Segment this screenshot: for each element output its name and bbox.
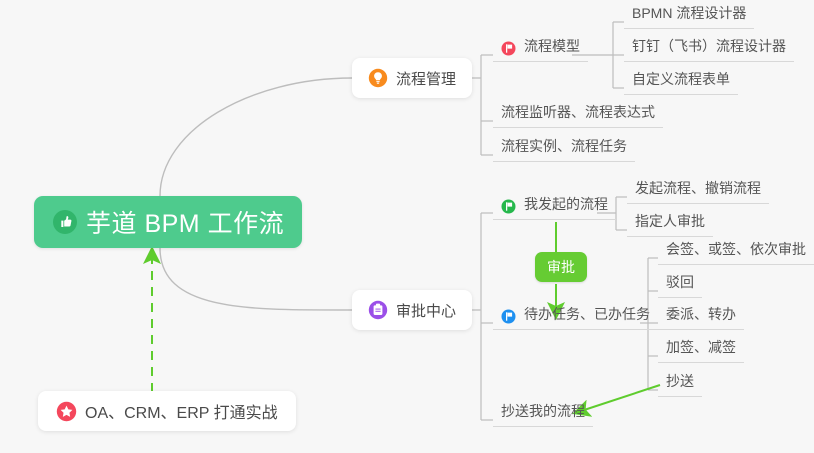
branch-node-process-management[interactable]: 流程管理 [352, 58, 472, 98]
node-label-cc: 抄送 [666, 371, 694, 391]
node-label-process-instance-task: 流程实例、流程任务 [501, 136, 627, 156]
root-node[interactable]: 芋道 BPM 工作流 [34, 196, 302, 248]
branch-node-approval-center[interactable]: 审批中心 [352, 290, 472, 330]
clipboard-icon [368, 300, 388, 320]
node-my-started-process[interactable]: 我发起的流程 [493, 194, 616, 220]
node-cc[interactable]: 抄送 [658, 371, 702, 397]
lightbulb-icon [368, 68, 388, 88]
node-label-bpmn-designer: BPMN 流程设计器 [632, 3, 746, 23]
node-label-process-model: 流程模型 [524, 36, 580, 56]
flag-icon [501, 309, 516, 324]
node-label-my-started-process: 我发起的流程 [524, 194, 608, 214]
branch-label-process-management: 流程管理 [396, 68, 456, 89]
node-label-process-listener-expression: 流程监听器、流程表达式 [501, 102, 655, 122]
node-label-start-cancel-process: 发起流程、撤销流程 [635, 178, 761, 198]
node-label-todo-done-task: 待办任务、已办任务 [524, 304, 650, 324]
node-start-cancel-process[interactable]: 发起流程、撤销流程 [627, 178, 769, 204]
node-label-delegate-transfer: 委派、转办 [666, 304, 736, 324]
node-todo-done-task[interactable]: 待办任务、已办任务 [493, 304, 658, 330]
node-label-cc-to-me-process: 抄送我的流程 [501, 401, 585, 421]
star-icon [56, 401, 77, 422]
root-label: 芋道 BPM 工作流 [86, 204, 284, 240]
node-delegate-transfer[interactable]: 委派、转办 [658, 304, 744, 330]
bottom-card-oa-crm-erp[interactable]: OA、CRM、ERP 打通实战 [38, 391, 296, 431]
node-label-add-remove-sign: 加签、减签 [666, 337, 736, 357]
node-custom-process-form[interactable]: 自定义流程表单 [624, 69, 738, 95]
node-process-instance-task[interactable]: 流程实例、流程任务 [493, 136, 635, 162]
approval-pill-annotation: 审批 [535, 252, 587, 282]
flag-icon [501, 41, 516, 56]
node-cc-to-me-process[interactable]: 抄送我的流程 [493, 401, 593, 427]
node-label-custom-process-form: 自定义流程表单 [632, 69, 730, 89]
node-add-remove-sign[interactable]: 加签、减签 [658, 337, 744, 363]
node-label-assignee-approval: 指定人审批 [635, 211, 705, 231]
node-label-reject: 驳回 [666, 272, 694, 292]
branch-label-approval-center: 审批中心 [396, 300, 456, 321]
node-label-dingtalk-feishu-designer: 钉钉（飞书）流程设计器 [632, 36, 786, 56]
connector-root-to-approval-center [160, 248, 352, 310]
node-label-countersign-orsign-sequential: 会签、或签、依次审批 [666, 239, 806, 259]
bottom-card-label: OA、CRM、ERP 打通实战 [85, 399, 278, 423]
node-process-model[interactable]: 流程模型 [493, 36, 588, 62]
approval-pill-label: 审批 [547, 257, 575, 277]
connector-root-to-process-management [160, 78, 352, 196]
node-reject[interactable]: 驳回 [658, 272, 702, 298]
node-assignee-approval[interactable]: 指定人审批 [627, 211, 713, 237]
mindmap-canvas: 芋道 BPM 工作流 流程管理 流程模型 流程监听器、流程表达式 流程实例、流 [0, 0, 814, 453]
node-process-listener-expression[interactable]: 流程监听器、流程表达式 [493, 102, 663, 128]
node-countersign-orsign-sequential[interactable]: 会签、或签、依次审批 [658, 239, 814, 265]
node-dingtalk-feishu-designer[interactable]: 钉钉（飞书）流程设计器 [624, 36, 794, 62]
flag-icon [501, 199, 516, 214]
node-bpmn-designer[interactable]: BPMN 流程设计器 [624, 3, 754, 29]
thumbs-up-icon [52, 209, 78, 235]
